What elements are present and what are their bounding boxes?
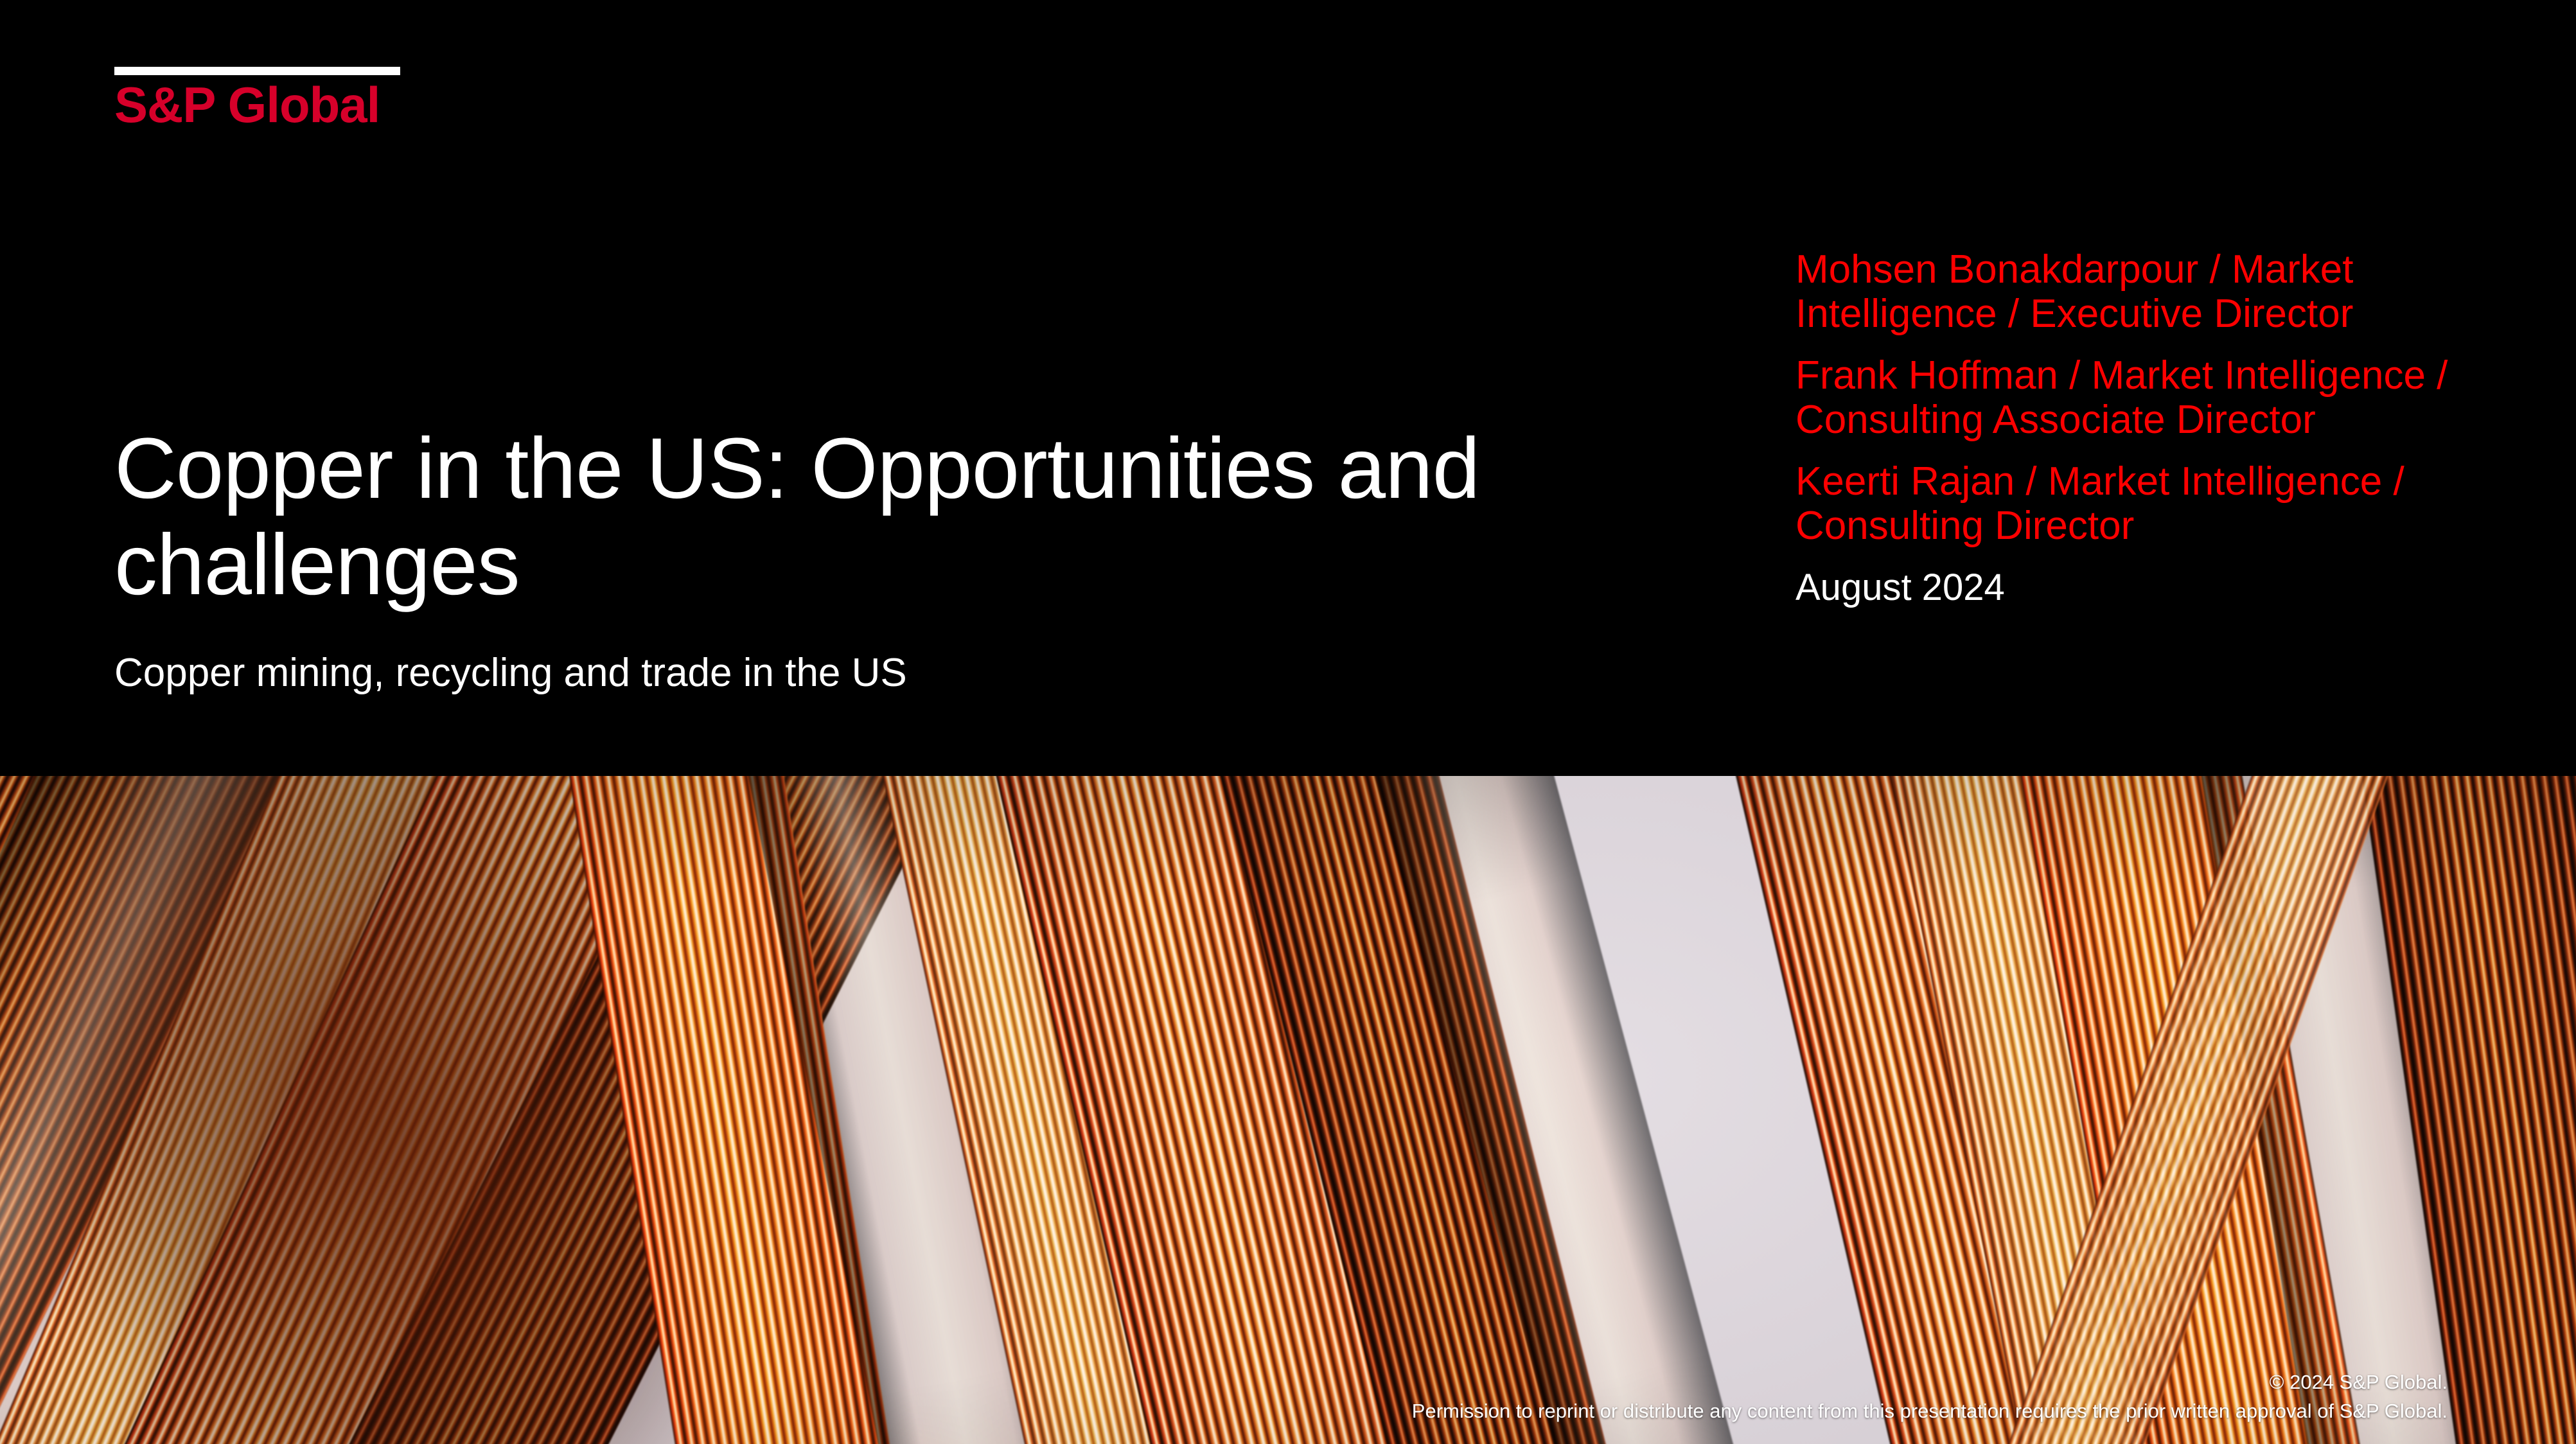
title-slide: © 2024 S&P Global. Permission to reprint…	[0, 0, 2576, 1444]
page-title: Copper in the US: Opportunities and chal…	[114, 421, 1592, 613]
hero-copper-wire-image	[0, 776, 2576, 1444]
author-line-2: Frank Hoffman / Market Intelligence / Co…	[1795, 353, 2502, 443]
footer-copyright: © 2024 S&P Global.	[1412, 1368, 2448, 1397]
title-panel: S&P Global Copper in the US: Opportuniti…	[0, 0, 2576, 776]
author-line-3: Keerti Rajan / Market Intelligence / Con…	[1795, 459, 2502, 549]
author-block: Mohsen Bonakdarpour / Market Intelligenc…	[1795, 247, 2502, 609]
author-line-1: Mohsen Bonakdarpour / Market Intelligenc…	[1795, 247, 2502, 337]
footer: © 2024 S&P Global. Permission to reprint…	[1412, 1368, 2448, 1426]
logo-wordmark: S&P Global	[114, 82, 400, 128]
sp-global-logo: S&P Global	[114, 67, 400, 128]
publication-date: August 2024	[1795, 567, 2502, 610]
title-block: Copper in the US: Opportunities and chal…	[114, 421, 1592, 698]
footer-permission-notice: Permission to reprint or distribute any …	[1412, 1397, 2448, 1426]
page-subtitle: Copper mining, recycling and trade in th…	[114, 649, 1592, 697]
logo-rule-icon	[114, 67, 400, 75]
